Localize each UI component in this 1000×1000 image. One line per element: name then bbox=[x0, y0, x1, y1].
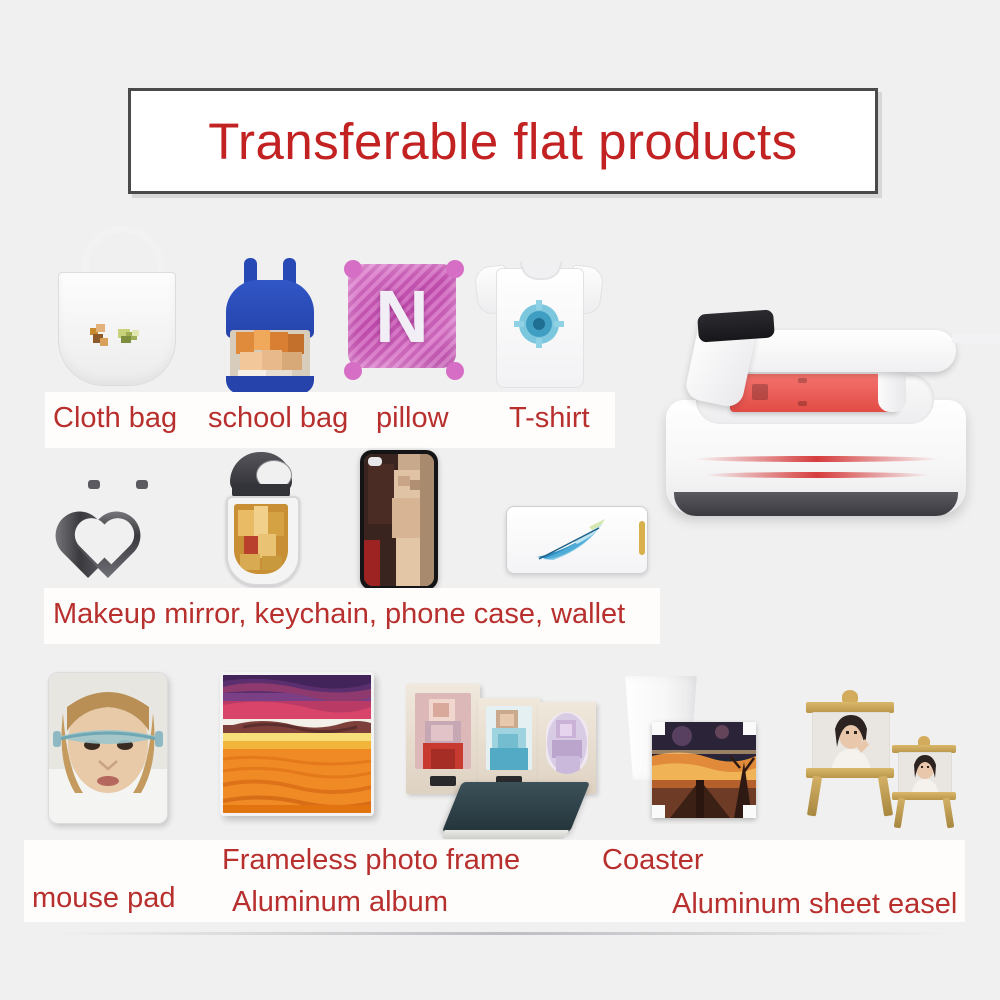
heat-press-plate-mark-2 bbox=[798, 378, 807, 383]
coaster-print-art bbox=[652, 722, 756, 818]
product-easel-large bbox=[802, 690, 898, 818]
product-tshirt bbox=[476, 252, 602, 388]
tshirt-print-art bbox=[514, 300, 564, 348]
easel-small-leg-left bbox=[894, 798, 906, 829]
aluminum-album-body bbox=[220, 672, 374, 816]
product-easel-small bbox=[890, 736, 958, 828]
bottom-divider bbox=[56, 932, 950, 935]
photo-frame-2-art bbox=[486, 706, 532, 770]
heat-press-plate-mark-1 bbox=[752, 384, 768, 400]
wallet-print-art bbox=[533, 519, 621, 563]
easel-small-frame bbox=[898, 752, 952, 796]
pillow-corner-bl bbox=[344, 362, 362, 380]
label-mouse-pad: mouse pad bbox=[32, 882, 176, 915]
heat-press-plate-mark-3 bbox=[798, 401, 807, 406]
photo-frame-3-window bbox=[546, 712, 588, 774]
label-band-row-1: Cloth bag school bag pillow T-shirt bbox=[45, 392, 615, 448]
pillow-corner-tr bbox=[446, 260, 464, 278]
photo-frame-1-art bbox=[415, 693, 471, 769]
album-book-body bbox=[442, 782, 590, 832]
coaster-notch-bl bbox=[652, 805, 665, 818]
album-book-pages bbox=[441, 830, 569, 839]
photo-frame-3 bbox=[538, 702, 596, 794]
coaster-notch-tl bbox=[652, 722, 665, 735]
pillow-letter: N bbox=[348, 264, 456, 368]
heart-icon bbox=[70, 478, 166, 562]
coaster-notch-br bbox=[743, 805, 756, 818]
photo-frame-1-window bbox=[415, 693, 471, 769]
heat-press-foot bbox=[674, 492, 958, 516]
product-album-book bbox=[452, 782, 582, 840]
label-frameless-photo-frame: Frameless photo frame bbox=[222, 844, 520, 877]
easel-small-photo-art bbox=[899, 753, 951, 795]
label-aluminum-sheet-easel: Aluminum sheet easel bbox=[672, 888, 957, 921]
pillow-corner-br bbox=[446, 362, 464, 380]
label-school-bag: school bag bbox=[208, 402, 348, 435]
easel-small-leg-right bbox=[943, 798, 955, 829]
easel-large-leg-left bbox=[807, 776, 822, 817]
photo-frame-2-window bbox=[486, 706, 532, 770]
heat-press-heating-plate bbox=[730, 374, 898, 412]
wallet-zipper bbox=[639, 521, 645, 555]
heat-press-stripe-upper bbox=[694, 456, 940, 462]
heat-press-power-cable bbox=[952, 334, 1000, 371]
infographic-canvas: Transferable flat products bbox=[0, 0, 1000, 1000]
product-makeup-mirror bbox=[70, 478, 166, 564]
label-makeup-mirror-keychain-phone-case-wallet: Makeup mirror, keychain, phone case, wal… bbox=[53, 598, 625, 631]
photo-frame-2 bbox=[478, 698, 540, 794]
coaster-body bbox=[652, 722, 756, 818]
label-cloth-bag: Cloth bag bbox=[53, 402, 177, 435]
mouse-pad-print-art bbox=[49, 673, 167, 823]
product-mouse-pad bbox=[48, 672, 168, 824]
heart-mirror-inner bbox=[85, 495, 151, 553]
keychain-print-art bbox=[234, 504, 288, 574]
album-book-cover bbox=[442, 782, 590, 832]
product-cloth-bag bbox=[58, 226, 176, 386]
product-school-bag bbox=[222, 258, 318, 398]
phone-case-print-art bbox=[364, 454, 434, 586]
heat-press-display-panel bbox=[697, 309, 775, 342]
heart-tab-left bbox=[88, 480, 100, 489]
product-pillow: N bbox=[348, 264, 460, 376]
coaster-notch-tr bbox=[743, 722, 756, 735]
cloth-bag-print-art bbox=[88, 322, 150, 352]
product-aluminum-album-panel bbox=[220, 672, 372, 814]
photo-frame-1 bbox=[406, 684, 480, 794]
tshirt-body bbox=[476, 252, 602, 386]
label-pillow: pillow bbox=[376, 402, 449, 435]
heat-press-stripe-lower bbox=[704, 472, 930, 478]
product-phone-case bbox=[360, 450, 440, 592]
photo-frame-3-art bbox=[546, 712, 588, 774]
aluminum-album-print-art bbox=[223, 675, 371, 813]
pillow-body: N bbox=[348, 264, 456, 368]
easel-large-frame bbox=[812, 712, 890, 772]
label-aluminum-album: Aluminum album bbox=[232, 886, 448, 919]
product-heat-press-machine bbox=[660, 296, 980, 524]
pillow-corner-tl bbox=[344, 260, 362, 278]
mouse-pad-body bbox=[48, 672, 168, 824]
product-keychain bbox=[218, 452, 306, 588]
heart-tab-right bbox=[136, 480, 148, 489]
keychain-plate bbox=[226, 496, 300, 586]
label-band-row-2: Makeup mirror, keychain, phone case, wal… bbox=[44, 588, 660, 644]
product-coaster bbox=[652, 722, 758, 820]
wallet-body bbox=[506, 506, 648, 574]
product-wallet bbox=[506, 506, 648, 574]
easel-large-photo-art bbox=[813, 713, 889, 771]
camera-icon bbox=[368, 457, 382, 466]
label-tshirt: T-shirt bbox=[509, 402, 590, 435]
phone-case-body bbox=[360, 450, 438, 590]
page-title: Transferable flat products bbox=[208, 112, 797, 171]
label-band-row-3: mouse pad Frameless photo frame Aluminum… bbox=[24, 840, 965, 922]
title-box: Transferable flat products bbox=[128, 88, 878, 194]
label-coaster: Coaster bbox=[602, 844, 704, 877]
